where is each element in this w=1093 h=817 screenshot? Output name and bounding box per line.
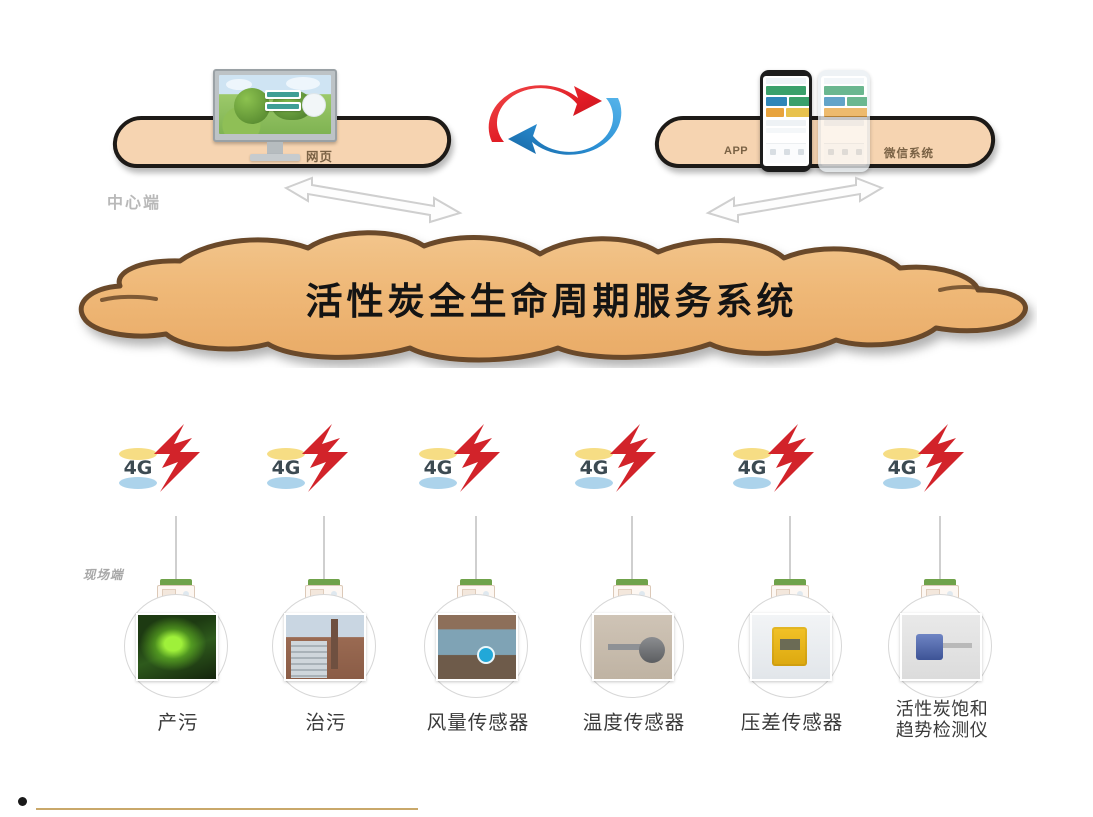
lightning-bolt-icon xyxy=(448,424,506,492)
cloud-blob-shape: 活性炭全生命周期服务系统 xyxy=(62,228,1037,368)
phone-tab-icon xyxy=(770,149,776,155)
slide-canvas: 网页 中心端 xyxy=(0,0,1093,817)
phone-list-row xyxy=(766,108,784,117)
photo-circle-frame xyxy=(888,594,992,698)
phone-list-row xyxy=(786,108,809,117)
photo-circle-frame xyxy=(272,594,376,698)
monitor-bezel xyxy=(213,69,337,142)
lightning-bolt-svg xyxy=(296,424,354,492)
phone-list-row xyxy=(766,97,787,106)
monitor-screen xyxy=(219,75,331,134)
blue-analyzer-instrument-photo xyxy=(900,613,982,681)
antenna-icon xyxy=(323,565,325,579)
phone-tab-bar xyxy=(766,143,806,163)
lightning-bolt-svg xyxy=(448,424,506,492)
bullet-dot xyxy=(18,797,27,806)
screen-bar xyxy=(267,104,299,109)
photo-circle-frame xyxy=(580,594,684,698)
phone-screen xyxy=(821,76,867,166)
antenna-icon xyxy=(175,565,177,579)
double-headed-outline-arrow-left xyxy=(278,176,468,229)
app-label: APP xyxy=(724,145,748,157)
lightning-bolt-icon xyxy=(148,424,206,492)
wechat-system-label: 微信系统 xyxy=(884,145,934,161)
phone-status-bar xyxy=(766,78,806,84)
monitor-stand-base xyxy=(250,154,300,161)
webpage-label: 网页 xyxy=(306,146,333,165)
phone-tab-icon xyxy=(842,149,848,155)
photo-circle-frame xyxy=(738,594,842,698)
phone-tab-bar xyxy=(824,143,864,163)
phone-list-row xyxy=(847,97,867,106)
outline-arrow-svg xyxy=(700,176,890,224)
screen-badge-icon xyxy=(302,93,326,117)
double-headed-outline-arrow-right xyxy=(700,176,890,229)
phone-tab-icon xyxy=(856,149,862,155)
phone-wechat-mockup xyxy=(818,70,870,172)
phone-list-row xyxy=(824,120,864,126)
phone-list-row xyxy=(766,128,806,133)
phone-tab-icon xyxy=(798,149,804,155)
lightning-bolt-svg xyxy=(148,424,206,492)
column-caption: 活性炭饱和 趋势检测仪 xyxy=(856,700,1028,741)
horizontal-rule xyxy=(36,808,418,810)
lightning-bolt-icon xyxy=(762,424,820,492)
circular-sync-arrows-icon xyxy=(470,68,640,168)
lightning-bolt-svg xyxy=(762,424,820,492)
screen-card xyxy=(265,90,301,99)
antenna-icon xyxy=(631,565,633,579)
antenna-icon xyxy=(475,565,477,579)
yellow-pressure-transmitter-photo xyxy=(750,613,832,681)
phone-tab-icon xyxy=(784,149,790,155)
phone-list-row xyxy=(766,120,806,126)
phone-list-row xyxy=(824,108,867,117)
duct-pipe-sensor-photo xyxy=(436,613,518,681)
antenna-icon xyxy=(939,565,941,579)
phone-list-row xyxy=(766,86,806,95)
lightning-bolt-svg xyxy=(912,424,970,492)
green-industrial-machine-photo xyxy=(136,613,218,681)
cloud-shape-icon xyxy=(286,77,320,90)
center-side-label: 中心端 xyxy=(107,189,161,213)
phone-status-bar xyxy=(824,78,864,84)
column-caption: 风量传感器 xyxy=(392,712,564,734)
phone-list-row xyxy=(824,86,864,95)
antenna-icon xyxy=(789,565,791,579)
field-side-label: 现场端 xyxy=(83,564,124,583)
column-caption: 温度传感器 xyxy=(548,712,720,734)
phone-app-mockup xyxy=(760,70,812,172)
sync-arrows-svg xyxy=(470,68,640,168)
column-caption: 产污 xyxy=(92,712,264,734)
photo-circle-frame xyxy=(124,594,228,698)
page-title: 活性炭全生命周期服务系统 xyxy=(62,228,1037,368)
lightning-bolt-icon xyxy=(296,424,354,492)
column-caption: 压差传感器 xyxy=(706,712,878,734)
phone-screen xyxy=(763,76,809,166)
phone-list-row xyxy=(824,97,845,106)
phone-list-row xyxy=(789,97,809,106)
lightning-bolt-icon xyxy=(912,424,970,492)
lightning-bolt-icon xyxy=(604,424,662,492)
screen-card xyxy=(265,102,301,111)
column-caption: 治污 xyxy=(240,712,412,734)
screen-bar xyxy=(267,92,299,97)
phone-tab-icon xyxy=(828,149,834,155)
outline-arrow-svg xyxy=(278,176,468,224)
lightning-bolt-svg xyxy=(604,424,662,492)
monitor-stand-neck xyxy=(267,142,283,154)
thermocouple-probe-photo xyxy=(592,613,674,681)
treatment-plant-building-photo xyxy=(284,613,366,681)
mobile-phones-icon xyxy=(760,62,888,170)
photo-circle-frame xyxy=(424,594,528,698)
